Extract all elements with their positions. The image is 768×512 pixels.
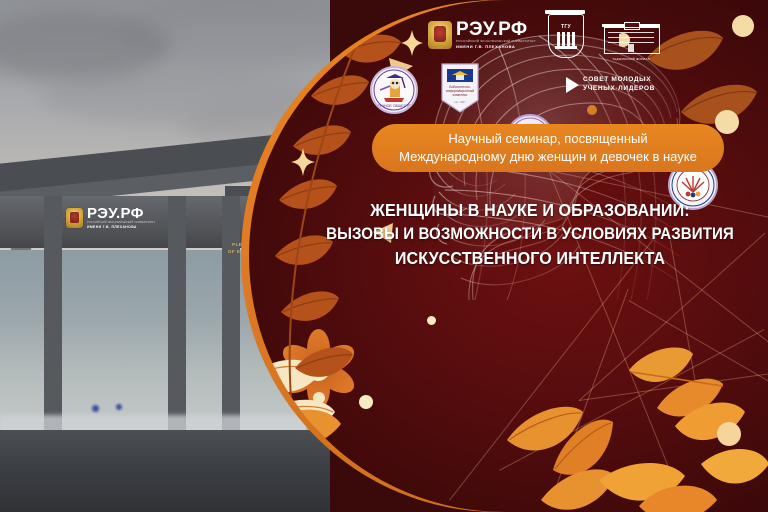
owl-graduate-icon: НАУЧНОЕ ОБЩЕСТВО [372, 68, 416, 112]
logo-tgu-shield: ТГУ [548, 14, 584, 58]
play-arrow-icon [566, 77, 579, 93]
sparkle-icon [401, 30, 423, 56]
logo-tgu-title: ТГУ [549, 24, 583, 30]
logo-council-line2: УЧЕНЫХ-ЛИДЕРОВ [583, 85, 655, 94]
building-sign-subtitle: РОССИЙСКИЙ ЭКОНОМИЧЕСКИЙ УНИВЕРСИТЕТ [87, 221, 155, 224]
building-sign-name: ИМЕНИ Г.В. ПЛЕХАНОВА [87, 225, 155, 229]
building-sign-brand: РЭУ.РФ [87, 206, 155, 221]
sparkle-icon [339, 470, 361, 496]
entrance-light [92, 405, 99, 412]
logo-building-caption: ТАДЖИКСКИЙ ФИЛИАЛ [604, 57, 658, 61]
logo-council-young-scientists: СОВЕТ МОЛОДЫХ УЧЕНЫХ-ЛИДЕРОВ [566, 76, 655, 94]
seminar-poster: РЭУ.РФ РОССИЙСКИЙ ЭКОНОМИЧЕСКИЙ УНИВЕРСИ… [0, 0, 768, 512]
autumn-leaf-cluster [479, 330, 768, 512]
banner-line1: Научный семинар, посвященный [448, 130, 647, 148]
banner-line2: Международному дню женщин и девочек в на… [399, 148, 697, 166]
sparkle-icon [291, 148, 315, 176]
logo-rzu-rf: РЭУ.РФ РОССИЙСКИЙ ЭКОНОМИЧЕСКИЙ УНИВЕРСИ… [428, 20, 536, 49]
graduation-cap-icon: Библиотечно- информационный комплекс est… [438, 62, 482, 114]
logo-university-building: ТАДЖИКСКИЙ ФИЛИАЛ [604, 22, 658, 54]
title-line3: ИСКУССТВЕННОГО ИНТЕЛЛЕКТА [318, 246, 741, 271]
eye-dot [587, 105, 597, 115]
svg-text:НАУЧНОЕ ОБЩЕСТВО: НАУЧНОЕ ОБЩЕСТВО [375, 104, 414, 108]
svg-text:est. 1907: est. 1907 [454, 100, 466, 104]
logo-rzu-name: ИМЕНИ Г.В. ПЛЕХАНОВА [456, 45, 536, 50]
logo-rzu-title: РЭУ.РФ [456, 20, 536, 39]
seminar-banner-pill: Научный семинар, посвященный Международн… [372, 124, 724, 172]
poster-title: ЖЕНЩИНЫ В НАУКЕ И ОБРАЗОВАНИИ: ВЫЗОВЫ И … [300, 198, 760, 271]
entrance-light [116, 404, 122, 410]
building-outline-icon: ТАДЖИКСКИЙ ФИЛИАЛ [604, 22, 658, 54]
svg-text:комплекс: комплекс [453, 93, 468, 97]
logo-council-line1: СОВЕТ МОЛОДЫХ [583, 76, 655, 85]
title-line2: ВЫЗОВЫ И ВОЗМОЖНОСТИ В УСЛОВИЯХ РАЗВИТИЯ [318, 223, 741, 246]
russian-coat-of-arms-icon [428, 21, 452, 49]
russian-coat-of-arms-icon [66, 208, 83, 228]
building-sign: РЭУ.РФ РОССИЙСКИЙ ЭКОНОМИЧЕСКИЙ УНИВЕРСИ… [66, 206, 155, 229]
logo-scholar-owl-emblem: НАУЧНОЕ ОБЩЕСТВО [370, 66, 418, 114]
shield-columns-icon: ТГУ [548, 14, 584, 58]
decor-dot [313, 392, 325, 404]
title-line1: ЖЕНЩИНЫ В НАУКЕ И ОБРАЗОВАНИИ: [318, 198, 741, 223]
logo-library-banner-emblem: Библиотечно- информационный комплекс est… [438, 62, 482, 114]
top-right-leaf-decor [619, 0, 768, 140]
